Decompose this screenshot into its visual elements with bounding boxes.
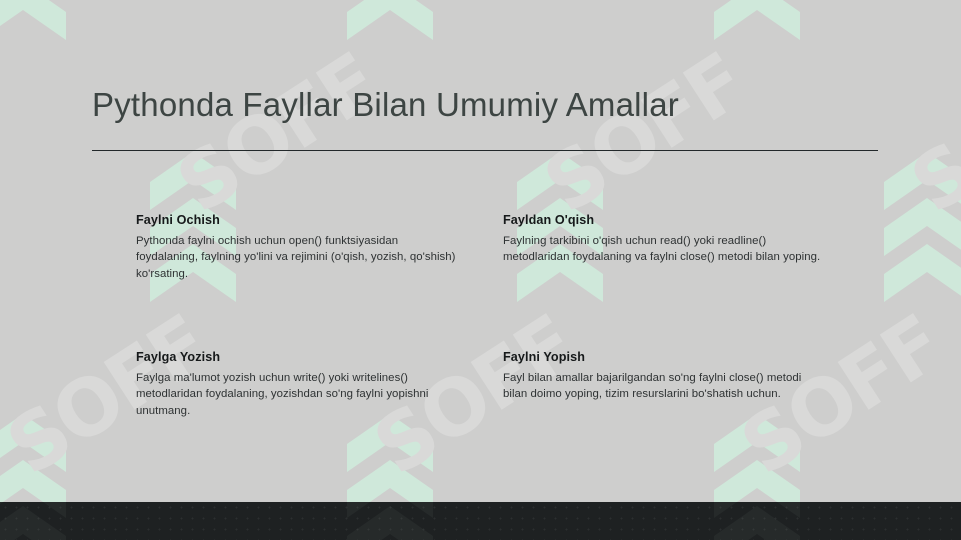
block-body: Pythonda faylni ochish uchun open() funk… <box>136 233 456 282</box>
content-block-faylni-ochish: Faylni Ochish Pythonda faylni ochish uch… <box>136 213 456 282</box>
slide-content: Pythonda Fayllar Bilan Umumiy Amallar Fa… <box>0 0 961 540</box>
footer-watermark-layer: SOFFSOFFSOFFSOFFSOFFSOFFSOFFSOFFSOFFSOFF… <box>0 502 961 540</box>
block-body: Faylga ma'lumot yozish uchun write() yok… <box>136 370 456 419</box>
presentation-slide: SOFFSOFFSOFFSOFFSOFFSOFFSOFFSOFFSOFFSOFF… <box>0 0 961 540</box>
block-body: Fayl bilan amallar bajarilgandan so'ng f… <box>503 370 823 403</box>
block-heading: Faylni Ochish <box>136 213 456 227</box>
chevron-stack-logo-icon <box>0 502 66 540</box>
block-body: Faylning tarkibini o'qish uchun read() y… <box>503 233 823 266</box>
block-heading: Faylga Yozish <box>136 350 456 364</box>
watermark-unit: SOFF <box>347 502 647 540</box>
watermark-unit: SOFF <box>0 502 280 540</box>
content-block-faylni-yopish: Faylni Yopish Fayl bilan amallar bajaril… <box>503 350 823 403</box>
chevron-stack-logo-icon <box>347 502 433 540</box>
chevron-stack-logo-icon <box>714 502 800 540</box>
slide-title: Pythonda Fayllar Bilan Umumiy Amallar <box>92 86 679 124</box>
block-heading: Faylni Yopish <box>503 350 823 364</box>
watermark-unit: SOFF <box>714 502 961 540</box>
content-block-faylga-yozish: Faylga Yozish Faylga ma'lumot yozish uch… <box>136 350 456 419</box>
title-divider-rule <box>92 150 878 151</box>
block-heading: Fayldan O'qish <box>503 213 823 227</box>
footer-bar: SOFFSOFFSOFFSOFFSOFFSOFFSOFFSOFFSOFFSOFF… <box>0 502 961 540</box>
content-block-fayldan-oqish: Fayldan O'qish Faylning tarkibini o'qish… <box>503 213 823 266</box>
